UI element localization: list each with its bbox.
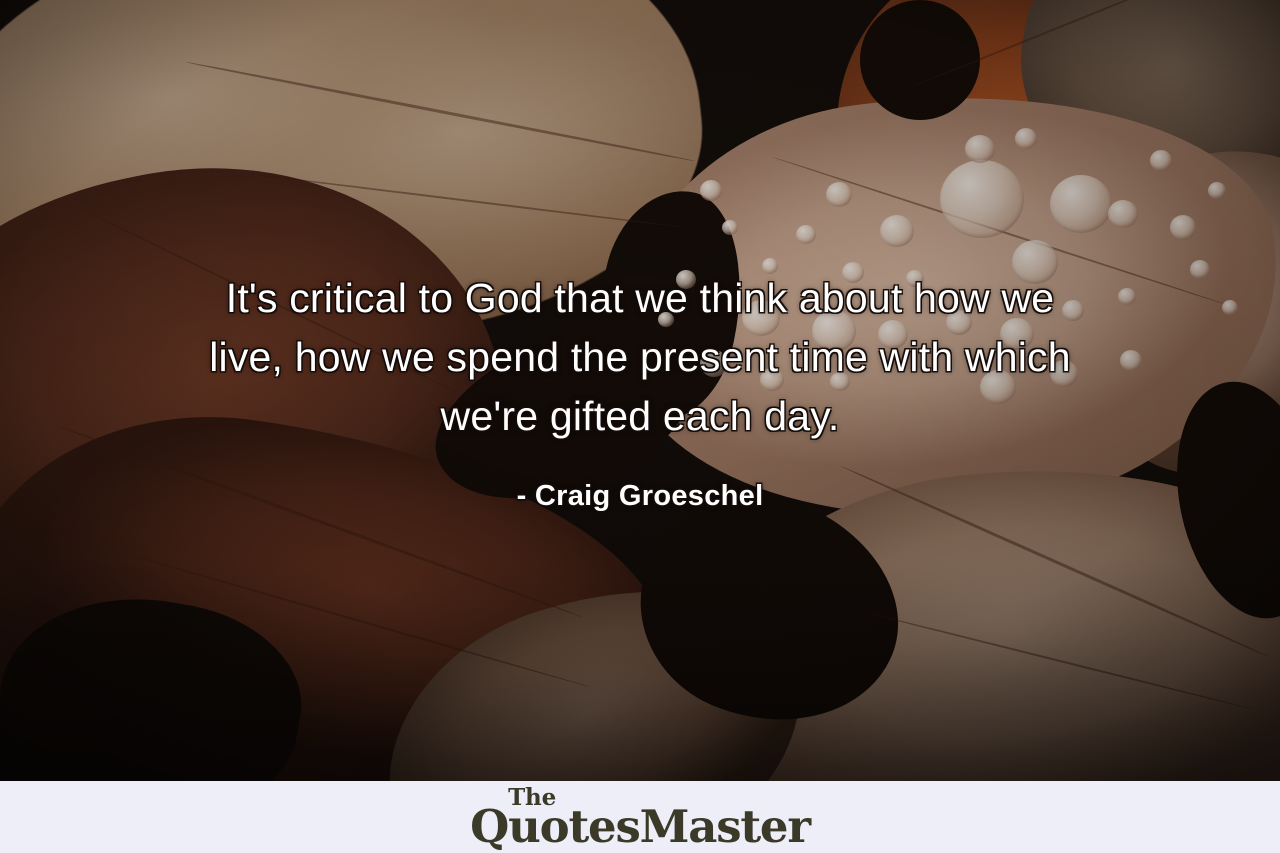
footer-bar: The QuotesMaster (0, 781, 1280, 853)
quote-card: It's critical to God that we think about… (0, 0, 1280, 853)
quote-author: - Craig Groeschel (517, 479, 764, 513)
quote-text: It's critical to God that we think about… (110, 269, 1170, 446)
quote-block: It's critical to God that we think about… (0, 0, 1280, 781)
brand-logo-the: The (508, 786, 556, 809)
brand-logo[interactable]: The QuotesMaster (470, 788, 810, 846)
